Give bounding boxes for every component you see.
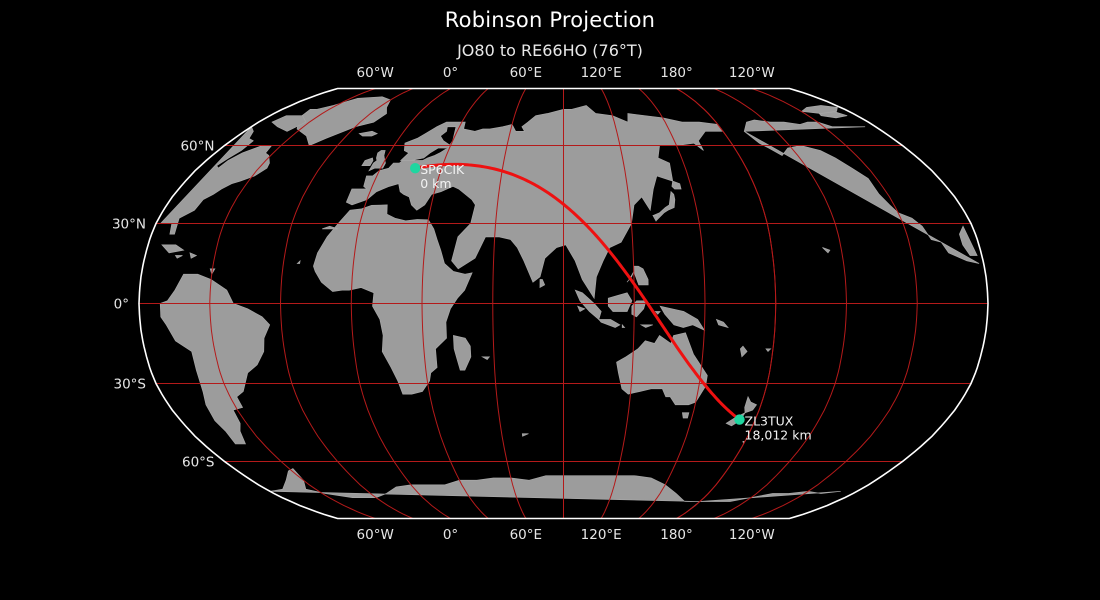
latitude-tick-label: 30°N <box>112 217 146 233</box>
longitude-tick-label: 0° <box>443 527 458 543</box>
robinson-map: 60°W0°60°E120°E180°120°W 60°W0°60°E120°E… <box>0 0 1100 600</box>
latitude-tick-label: 0° <box>114 297 129 313</box>
longitude-ticks-top: 60°W0°60°E120°E180°120°W <box>357 65 775 81</box>
latitude-tick-label: 60°S <box>182 454 215 470</box>
longitude-tick-label: 180° <box>660 527 693 543</box>
station-distance-label: 18,012 km <box>745 428 812 443</box>
longitude-tick-label: 60°E <box>510 527 542 543</box>
longitude-tick-label: 120°E <box>581 65 622 81</box>
map-body <box>130 80 1000 530</box>
map-figure: Robinson Projection JO80 to RE66HO (76°T… <box>0 0 1100 600</box>
station-distance-label: 0 km <box>420 176 451 191</box>
longitude-tick-label: 60°E <box>510 65 542 81</box>
longitude-tick-label: 0° <box>443 65 458 81</box>
longitude-tick-label: 120°E <box>581 527 622 543</box>
longitude-tick-label: 60°W <box>357 527 394 543</box>
longitude-ticks-bottom: 60°W0°60°E120°E180°120°W <box>357 527 775 543</box>
landmass <box>682 413 688 418</box>
latitude-tick-label: 30°S <box>114 377 147 393</box>
station-dot-icon[interactable] <box>410 163 420 173</box>
longitude-tick-label: 60°W <box>357 65 394 81</box>
longitude-tick-label: 120°W <box>729 527 775 543</box>
station-callsign-label: SP6CIK <box>420 162 465 177</box>
station-callsign-label: ZL3TUX <box>745 414 794 429</box>
longitude-tick-label: 120°W <box>729 65 775 81</box>
station-dot-icon[interactable] <box>734 414 744 424</box>
longitude-tick-label: 180° <box>660 65 693 81</box>
latitude-tick-label: 60°N <box>180 139 214 155</box>
